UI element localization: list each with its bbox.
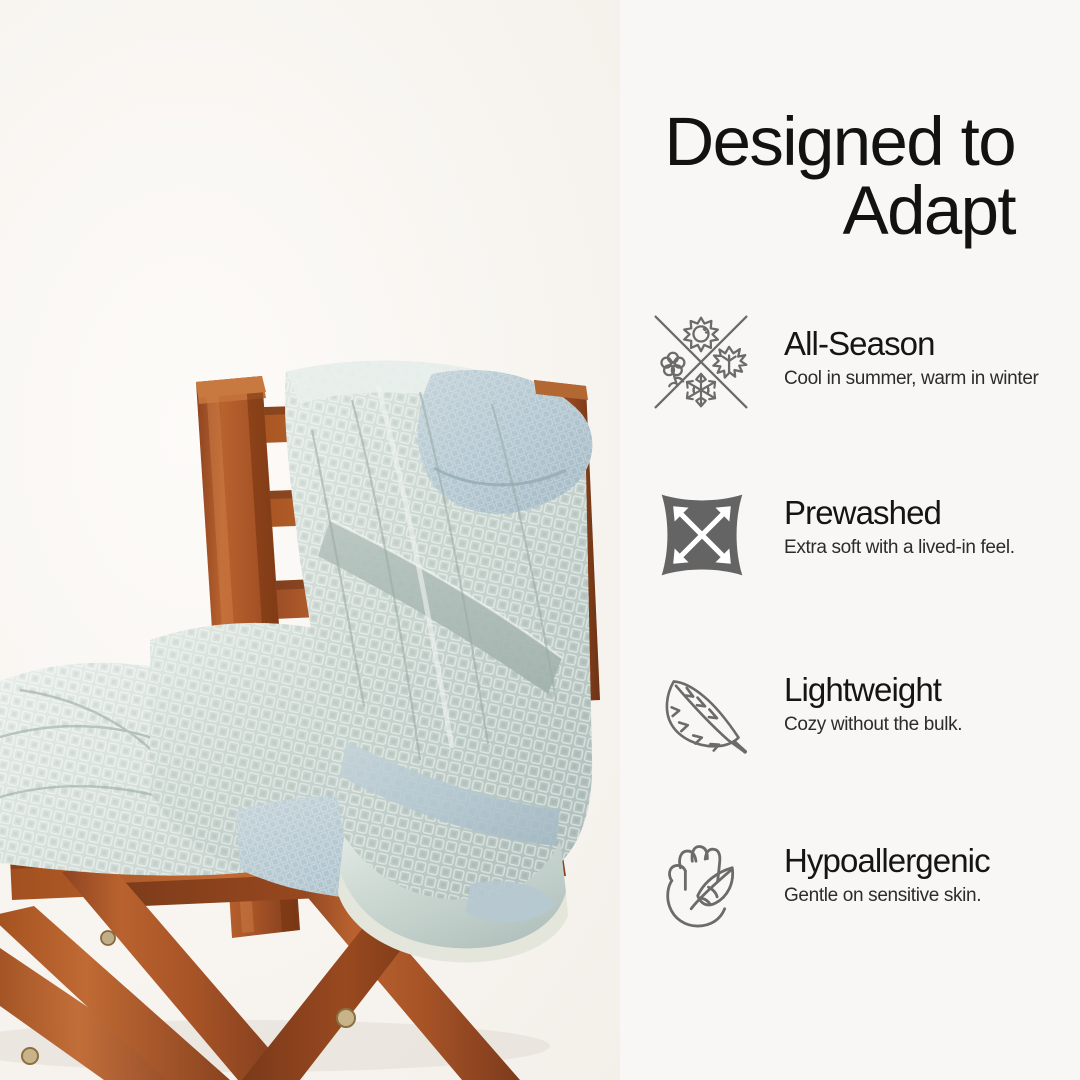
feature-item-all-season: All-Season Cool in summer, warm in winte… — [636, 300, 1080, 473]
feature-content-panel: Designed to Adapt — [620, 0, 1080, 1080]
pillow-expand-arrows-icon — [654, 487, 750, 583]
feature-subtitle: Extra soft with a lived-in feel. — [784, 536, 1080, 560]
hand-leaf-icon — [648, 831, 756, 939]
product-feature-graphic: Designed to Adapt — [0, 0, 1080, 1080]
feather-icon — [650, 662, 758, 770]
feature-text-block: Prewashed Extra soft with a lived-in fee… — [784, 495, 1080, 559]
feature-subtitle: Cozy without the bulk. — [784, 713, 1080, 737]
feature-subtitle: Gentle on sensitive skin. — [784, 884, 1080, 908]
feature-item-lightweight: Lightweight Cozy without the bulk. — [636, 646, 1080, 819]
feature-text-block: Hypoallergenic Gentle on sensitive skin. — [784, 843, 1080, 907]
feature-text-block: All-Season Cool in summer, warm in winte… — [784, 326, 1080, 390]
feature-text-block: Lightweight Cozy without the bulk. — [784, 672, 1080, 736]
feature-item-prewashed: Prewashed Extra soft with a lived-in fee… — [636, 473, 1080, 646]
feature-item-hypoallergenic: Hypoallergenic Gentle on sensitive skin. — [636, 819, 1080, 992]
blanket-on-chair-illustration — [0, 0, 620, 1080]
feature-subtitle: Cool in summer, warm in winter — [784, 367, 1080, 391]
feature-title: All-Season — [784, 326, 1080, 362]
feature-list: All-Season Cool in summer, warm in winte… — [636, 300, 1080, 992]
feature-title: Prewashed — [784, 495, 1080, 531]
page-title: Designed to Adapt — [580, 108, 1015, 245]
product-photo — [0, 0, 620, 1080]
feature-title: Hypoallergenic — [784, 843, 1080, 879]
four-seasons-icon — [647, 308, 755, 416]
feature-title: Lightweight — [784, 672, 1080, 708]
